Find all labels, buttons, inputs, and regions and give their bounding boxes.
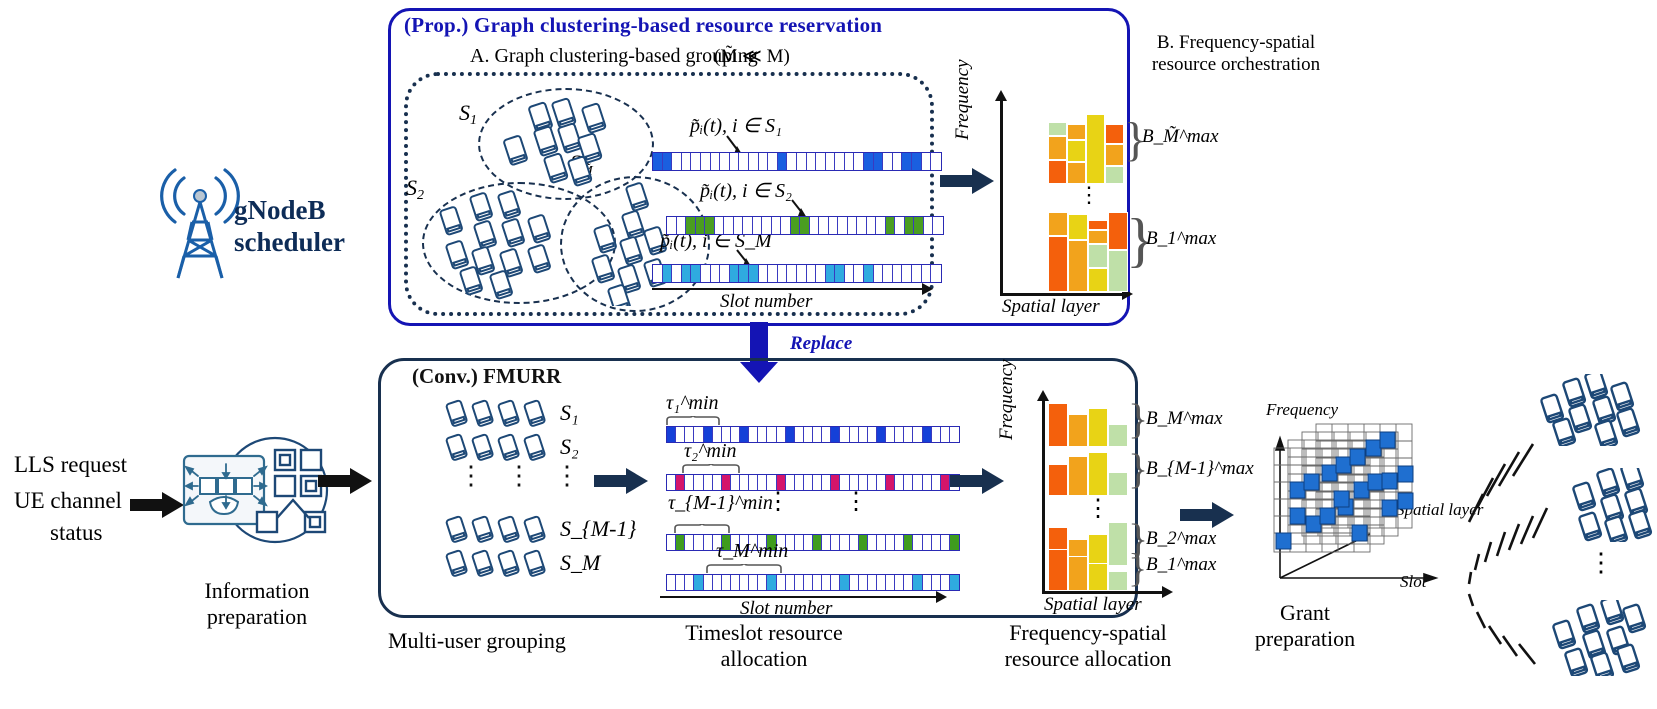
slot-cell[interactable] bbox=[904, 575, 913, 590]
tau-brace-2 bbox=[682, 464, 740, 474]
input-lls-request: LLS request bbox=[14, 452, 127, 478]
slot-cell[interactable] bbox=[807, 153, 817, 170]
bar-stack-3 bbox=[1088, 220, 1108, 230]
slot-cell[interactable] bbox=[694, 575, 703, 590]
slot-cell[interactable] bbox=[795, 575, 804, 590]
slot-cell[interactable] bbox=[868, 427, 877, 442]
slot-cell[interactable] bbox=[950, 575, 959, 590]
slot-cell[interactable] bbox=[913, 575, 922, 590]
slot-cell[interactable] bbox=[813, 427, 822, 442]
bar-stack-3 bbox=[1088, 230, 1108, 244]
slot-cell[interactable] bbox=[886, 427, 895, 442]
slot-cell[interactable] bbox=[787, 153, 797, 170]
bar-3 bbox=[1088, 408, 1108, 447]
grant-fan-dashes bbox=[1455, 430, 1585, 670]
slot-cell[interactable] bbox=[941, 535, 950, 550]
slot-axis-arrow-conv bbox=[936, 591, 947, 603]
slot-cell[interactable] bbox=[941, 475, 950, 490]
gnodeb-label-line1: gNodeB bbox=[234, 195, 345, 227]
slot-cell[interactable] bbox=[720, 265, 730, 282]
slot-bar-s2[interactable] bbox=[666, 216, 944, 235]
slot-bar-conv-4[interactable] bbox=[666, 574, 960, 591]
bar-stack-2 bbox=[1067, 162, 1086, 184]
group-devices-s2 bbox=[444, 432, 548, 462]
stage-label-line2: resource allocation bbox=[968, 646, 1208, 672]
slot-cell[interactable] bbox=[778, 265, 788, 282]
arrow-grouping-to-timeslot bbox=[594, 466, 650, 496]
slot-cell[interactable] bbox=[868, 575, 877, 590]
slot-cell[interactable] bbox=[762, 217, 772, 234]
slot-cell[interactable] bbox=[905, 217, 915, 234]
information-preparation-icon bbox=[180, 428, 338, 564]
slot-cell[interactable] bbox=[724, 217, 734, 234]
input-ue-channel-status: status bbox=[50, 520, 102, 546]
slot-cell[interactable] bbox=[822, 575, 831, 590]
stage-label-frequency-spatial-resource-allocation: Frequency-spatial resource allocation bbox=[968, 620, 1208, 673]
slot-cell[interactable] bbox=[740, 427, 749, 442]
slot-cell[interactable] bbox=[922, 153, 932, 170]
bar-stack-2 bbox=[1068, 214, 1088, 240]
bar-stack-2 bbox=[1068, 240, 1088, 292]
slot-cell[interactable] bbox=[804, 427, 813, 442]
cluster-label-s2: S2 bbox=[406, 175, 424, 204]
slot-cell[interactable] bbox=[826, 265, 836, 282]
slot-cell[interactable] bbox=[941, 427, 950, 442]
slot-cell[interactable] bbox=[704, 535, 713, 550]
slot-cell[interactable] bbox=[800, 217, 810, 234]
slot-cell[interactable] bbox=[813, 535, 822, 550]
slot-cell[interactable] bbox=[912, 153, 922, 170]
slot-cell[interactable] bbox=[923, 427, 932, 442]
chart-b-y-axis bbox=[1000, 100, 1003, 296]
slot-cell[interactable] bbox=[685, 575, 694, 590]
slot-cell[interactable] bbox=[895, 475, 904, 490]
slot-cell[interactable] bbox=[804, 535, 813, 550]
slot-cell[interactable] bbox=[864, 265, 874, 282]
slot-cell[interactable] bbox=[676, 475, 685, 490]
slot-cell[interactable] bbox=[886, 217, 896, 234]
slot-cell[interactable] bbox=[868, 535, 877, 550]
slot-cell[interactable] bbox=[886, 475, 895, 490]
stage-label-multi-user-grouping: Multi-user grouping bbox=[388, 628, 566, 654]
chart-b-y-arrow bbox=[995, 90, 1007, 101]
slot-cell[interactable] bbox=[772, 217, 782, 234]
chart-b-ellipsis: ⋮ bbox=[1078, 192, 1100, 198]
slot-cell[interactable] bbox=[711, 153, 721, 170]
slot-cell[interactable] bbox=[904, 475, 913, 490]
slot-cell[interactable] bbox=[883, 153, 893, 170]
slot-cell[interactable] bbox=[922, 265, 932, 282]
chart-b-brace-label-upper: B_M̃^max bbox=[1142, 126, 1219, 148]
arrow-timeslot-to-freq-chart bbox=[950, 466, 1006, 496]
slot-cell[interactable] bbox=[931, 265, 941, 282]
chart-b-group-upper bbox=[1048, 122, 1120, 184]
slot-cell[interactable] bbox=[912, 265, 922, 282]
slot-cell[interactable] bbox=[731, 575, 740, 590]
slot-cell[interactable] bbox=[778, 153, 788, 170]
slot-cell[interactable] bbox=[795, 535, 804, 550]
slot-cell[interactable] bbox=[932, 475, 941, 490]
bar-4 bbox=[1108, 571, 1128, 591]
slot-cell[interactable] bbox=[831, 535, 840, 550]
slot-cell[interactable] bbox=[914, 217, 924, 234]
slot-cell[interactable] bbox=[701, 265, 711, 282]
slot-cell[interactable] bbox=[895, 427, 904, 442]
slot-cell[interactable] bbox=[682, 153, 692, 170]
slot-cell[interactable] bbox=[740, 575, 749, 590]
slot-cell[interactable] bbox=[731, 475, 740, 490]
slot-cell[interactable] bbox=[840, 427, 849, 442]
group-ellipsis-dots: ⋮⋮⋮ bbox=[458, 470, 602, 482]
slot-cell[interactable] bbox=[904, 535, 913, 550]
gnodeb-label-line2: scheduler bbox=[234, 227, 345, 259]
stage-label-grant-preparation: Grant preparation bbox=[1220, 600, 1390, 653]
tau-brace-1 bbox=[666, 416, 720, 426]
slot-cell[interactable] bbox=[904, 427, 913, 442]
slot-cell[interactable] bbox=[932, 575, 941, 590]
chart-b-group-lower bbox=[1048, 212, 1126, 292]
slot-cell[interactable] bbox=[791, 217, 801, 234]
slot-cell[interactable] bbox=[753, 217, 763, 234]
stage-label-line1: Timeslot resource bbox=[664, 620, 864, 646]
slot-cell[interactable] bbox=[924, 217, 934, 234]
slot-cell[interactable] bbox=[759, 265, 769, 282]
slot-bar-sm[interactable] bbox=[652, 264, 942, 283]
slot-cell[interactable] bbox=[795, 475, 804, 490]
slot-cell[interactable] bbox=[838, 217, 848, 234]
slot-cell[interactable] bbox=[850, 475, 859, 490]
slot-cell[interactable] bbox=[826, 153, 836, 170]
slot-cell[interactable] bbox=[933, 217, 943, 234]
slot-axis-arrow-proposed bbox=[922, 283, 933, 295]
slot-cell[interactable] bbox=[845, 265, 855, 282]
slot-cell[interactable] bbox=[694, 535, 703, 550]
replace-label: Replace bbox=[790, 333, 852, 355]
slot-cell[interactable] bbox=[850, 575, 859, 590]
chart-conv-group-m bbox=[1048, 403, 1128, 447]
slot-cell[interactable] bbox=[857, 217, 867, 234]
slot-cell[interactable] bbox=[840, 475, 849, 490]
slot-cell[interactable] bbox=[667, 575, 676, 590]
arrow-inputs-to-info-prep bbox=[130, 490, 186, 520]
slot-cell[interactable] bbox=[663, 153, 673, 170]
slot-cell[interactable] bbox=[877, 575, 886, 590]
slot-cell[interactable] bbox=[667, 217, 677, 234]
slot-cell[interactable] bbox=[749, 153, 759, 170]
chart-conv-brace-label-1: B_1^max bbox=[1146, 554, 1216, 576]
slot-cell[interactable] bbox=[722, 475, 731, 490]
slot-cell[interactable] bbox=[797, 153, 807, 170]
chart-conv-brace-1: } bbox=[1128, 544, 1147, 591]
bar-stack-1 bbox=[1048, 160, 1067, 184]
group-devices-sm1 bbox=[444, 514, 548, 544]
slot-cell[interactable] bbox=[786, 475, 795, 490]
slot-cell[interactable] bbox=[795, 427, 804, 442]
slot-cell[interactable] bbox=[868, 475, 877, 490]
chart-conv-y-axis bbox=[1042, 400, 1045, 594]
slot-cell[interactable] bbox=[923, 575, 932, 590]
slot-cell[interactable] bbox=[923, 475, 932, 490]
group-label-s1: S₁ bbox=[560, 400, 579, 426]
slot-cell[interactable] bbox=[859, 427, 868, 442]
chart-conv-y-arrow bbox=[1037, 390, 1049, 401]
slot-cell[interactable] bbox=[749, 475, 758, 490]
slot-cell[interactable] bbox=[749, 265, 759, 282]
slot-cell[interactable] bbox=[932, 535, 941, 550]
slot-cell[interactable] bbox=[932, 427, 941, 442]
slot-cell[interactable] bbox=[734, 217, 744, 234]
slot-bar-conv-2[interactable] bbox=[666, 474, 960, 491]
slot-cell[interactable] bbox=[711, 265, 721, 282]
slot-cell[interactable] bbox=[743, 217, 753, 234]
slot-cell[interactable] bbox=[923, 535, 932, 550]
bar-stack-1 bbox=[1048, 136, 1067, 160]
slot-cell[interactable] bbox=[886, 535, 895, 550]
conv-slot-ellipsis-2: ⋮ bbox=[844, 498, 868, 507]
gnodeb-label: gNodeB scheduler bbox=[234, 195, 345, 259]
bar-stack-2 bbox=[1067, 124, 1086, 140]
slot-cell[interactable] bbox=[758, 427, 767, 442]
slot-cell[interactable] bbox=[781, 217, 791, 234]
slot-cell[interactable] bbox=[913, 535, 922, 550]
slot-bar-conv-3[interactable] bbox=[666, 534, 960, 551]
slot-cell[interactable] bbox=[831, 475, 840, 490]
bar-3 bbox=[1088, 452, 1108, 496]
slot-cell[interactable] bbox=[758, 475, 767, 490]
slot-cell[interactable] bbox=[663, 265, 673, 282]
slot-cell[interactable] bbox=[777, 575, 786, 590]
slot-cell[interactable] bbox=[859, 575, 868, 590]
stage-label-line2: preparation bbox=[177, 604, 337, 630]
slot-cell[interactable] bbox=[804, 575, 813, 590]
slot-cell[interactable] bbox=[822, 427, 831, 442]
chart-conv-brace-label-m1: B_{M-1}^max bbox=[1146, 458, 1254, 480]
group-label-sm: S_M bbox=[560, 550, 600, 576]
slot-cell[interactable] bbox=[720, 153, 730, 170]
slot-cell[interactable] bbox=[835, 153, 845, 170]
slot-cell[interactable] bbox=[913, 427, 922, 442]
slot-cell[interactable] bbox=[854, 153, 864, 170]
slot-cell[interactable] bbox=[819, 217, 829, 234]
chart-conv-ellipsis: ⋮ bbox=[1086, 506, 1110, 512]
slot-cell[interactable] bbox=[840, 575, 849, 590]
slot-bar-s1[interactable] bbox=[652, 152, 942, 171]
slot-cell[interactable] bbox=[767, 475, 776, 490]
slot-cell[interactable] bbox=[822, 535, 831, 550]
slot-cell[interactable] bbox=[701, 153, 711, 170]
slot-cell[interactable] bbox=[807, 265, 817, 282]
chart-conv-group-1 bbox=[1048, 549, 1128, 591]
slot-cell[interactable] bbox=[874, 265, 884, 282]
slot-cell[interactable] bbox=[653, 265, 663, 282]
slot-cell[interactable] bbox=[786, 427, 795, 442]
arrow-info-prep-to-conv bbox=[318, 466, 374, 496]
slot-cell[interactable] bbox=[835, 265, 845, 282]
slot-cell[interactable] bbox=[713, 475, 722, 490]
slot-cell[interactable] bbox=[730, 265, 740, 282]
conventional-panel-title: (Conv.) FMURR bbox=[412, 364, 561, 389]
slot-cell[interactable] bbox=[713, 575, 722, 590]
antenna-tower-icon bbox=[158, 152, 242, 280]
slot-cell[interactable] bbox=[895, 535, 904, 550]
slot-cell[interactable] bbox=[859, 535, 868, 550]
slot-cell[interactable] bbox=[913, 475, 922, 490]
group-label-sm1: S_{M-1} bbox=[560, 516, 636, 542]
slot-cell[interactable] bbox=[749, 575, 758, 590]
slot-cell[interactable] bbox=[768, 265, 778, 282]
slot-cell[interactable] bbox=[877, 427, 886, 442]
stage-label-timeslot-resource-allocation: Timeslot resource allocation bbox=[664, 620, 864, 673]
slot-cell[interactable] bbox=[767, 427, 776, 442]
slot-cell[interactable] bbox=[859, 475, 868, 490]
cluster-devices-s1 bbox=[486, 92, 646, 192]
slot-cell[interactable] bbox=[758, 575, 767, 590]
slot-cell[interactable] bbox=[854, 265, 864, 282]
slot-axis-label-proposed: Slot number bbox=[720, 291, 812, 313]
slot-cell[interactable] bbox=[667, 427, 676, 442]
bar-stack-4 bbox=[1105, 124, 1124, 144]
slot-cell[interactable] bbox=[676, 575, 685, 590]
slot-cell[interactable] bbox=[848, 217, 858, 234]
slot-cell[interactable] bbox=[685, 535, 694, 550]
slot-cell[interactable] bbox=[696, 217, 706, 234]
slot-cell[interactable] bbox=[691, 153, 701, 170]
slot-cell[interactable] bbox=[667, 535, 676, 550]
slot-cell[interactable] bbox=[786, 575, 795, 590]
bar-stack-1 bbox=[1048, 122, 1067, 136]
stage-label-line1: Frequency-spatial bbox=[968, 620, 1208, 646]
slot-cell[interactable] bbox=[672, 153, 682, 170]
slot-cell[interactable] bbox=[895, 575, 904, 590]
bar-stack-3 bbox=[1088, 268, 1108, 292]
slot-cell[interactable] bbox=[813, 575, 822, 590]
stage-label-line1: Grant bbox=[1220, 600, 1390, 626]
slot-cell[interactable] bbox=[787, 265, 797, 282]
slot-cell[interactable] bbox=[694, 475, 703, 490]
bar-2 bbox=[1068, 456, 1088, 496]
slot-cell[interactable] bbox=[950, 535, 959, 550]
slot-cell[interactable] bbox=[768, 153, 778, 170]
stage-label-line1: Information bbox=[177, 578, 337, 604]
slot-cell[interactable] bbox=[886, 575, 895, 590]
proposed-subsection-a-note: (M̃ ≪ M) bbox=[714, 45, 790, 68]
slot-cell[interactable] bbox=[739, 265, 749, 282]
slot-cell[interactable] bbox=[902, 153, 912, 170]
slot-cell[interactable] bbox=[691, 265, 701, 282]
slot-cell[interactable] bbox=[831, 575, 840, 590]
slot-cell[interactable] bbox=[676, 535, 685, 550]
slot-cell[interactable] bbox=[845, 153, 855, 170]
slot-cell[interactable] bbox=[667, 475, 676, 490]
slot-cell[interactable] bbox=[682, 265, 692, 282]
slot-cell[interactable] bbox=[739, 153, 749, 170]
slot-cell[interactable] bbox=[813, 475, 822, 490]
slot-cell[interactable] bbox=[740, 475, 749, 490]
group-devices-sm bbox=[444, 548, 548, 578]
stage-label-information-preparation: Information preparation bbox=[177, 578, 337, 631]
proposed-subsection-b-title: B. Frequency-spatial resource orchestrat… bbox=[1141, 32, 1331, 76]
slot-cell[interactable] bbox=[722, 575, 731, 590]
slot-cell[interactable] bbox=[950, 427, 959, 442]
slot-cell[interactable] bbox=[831, 427, 840, 442]
bar-4 bbox=[1108, 472, 1128, 496]
tau-brace-3 bbox=[674, 524, 730, 534]
slot-cell[interactable] bbox=[685, 475, 694, 490]
bar-2 bbox=[1068, 556, 1088, 591]
slot-cell[interactable] bbox=[672, 265, 682, 282]
arrow-conv-to-grant-prep bbox=[1180, 500, 1236, 530]
slot-cell[interactable] bbox=[677, 217, 687, 234]
proposed-subsection-b-line1: B. Frequency-spatial bbox=[1141, 32, 1331, 54]
slot-cell[interactable] bbox=[705, 217, 715, 234]
bar-stack-4 bbox=[1108, 250, 1128, 292]
tau-label-3: τ_{M-1}^min bbox=[668, 492, 773, 515]
slot-cell[interactable] bbox=[893, 153, 903, 170]
slot-cell[interactable] bbox=[730, 153, 740, 170]
slot-cell[interactable] bbox=[653, 153, 663, 170]
tau-label-1: τ₁^min bbox=[666, 392, 719, 415]
slot-cell[interactable] bbox=[893, 265, 903, 282]
tau-label-4: τ_M^min bbox=[716, 540, 788, 563]
slot-cell[interactable] bbox=[902, 265, 912, 282]
slot-cell[interactable] bbox=[704, 575, 713, 590]
slot-cell[interactable] bbox=[704, 475, 713, 490]
slot-cell[interactable] bbox=[749, 427, 758, 442]
slot-cell[interactable] bbox=[777, 427, 786, 442]
slot-cell[interactable] bbox=[822, 475, 831, 490]
slot-cell[interactable] bbox=[941, 575, 950, 590]
stage-label-line2: preparation bbox=[1220, 626, 1390, 652]
slot-cell[interactable] bbox=[816, 265, 826, 282]
cluster-label-s1: S1 bbox=[459, 100, 477, 129]
slot-axis-line-proposed bbox=[652, 288, 924, 290]
arrow-to-orchestration-chart bbox=[940, 166, 996, 196]
slot-cell[interactable] bbox=[876, 217, 886, 234]
slot-cell[interactable] bbox=[840, 535, 849, 550]
slot-cell[interactable] bbox=[759, 153, 769, 170]
slot-cell[interactable] bbox=[816, 153, 826, 170]
slot-cell[interactable] bbox=[797, 265, 807, 282]
chart-conv-group-m1 bbox=[1048, 452, 1128, 496]
grant-resource-cube bbox=[1270, 418, 1460, 598]
slot-cell[interactable] bbox=[829, 217, 839, 234]
slot-cell[interactable] bbox=[715, 217, 725, 234]
slot-cell[interactable] bbox=[686, 217, 696, 234]
slot-cell[interactable] bbox=[767, 575, 776, 590]
proposed-subsection-b-line2: resource orchestration bbox=[1141, 54, 1331, 76]
slot-row-label-s2: p̃ᵢ(t), i ∈ S₂ bbox=[700, 178, 792, 203]
slot-cell[interactable] bbox=[777, 475, 786, 490]
slot-cell[interactable] bbox=[850, 535, 859, 550]
slot-cell[interactable] bbox=[883, 265, 893, 282]
slot-cell[interactable] bbox=[810, 217, 820, 234]
slot-cell[interactable] bbox=[877, 535, 886, 550]
slot-cell[interactable] bbox=[877, 475, 886, 490]
slot-cell[interactable] bbox=[850, 427, 859, 442]
bar-stack-3 bbox=[1086, 114, 1105, 184]
tau-label-2: τ₂^min bbox=[684, 440, 737, 463]
slot-cell[interactable] bbox=[867, 217, 877, 234]
bar-stack-4 bbox=[1108, 212, 1128, 250]
chart-conv-brace-label-2: B_2^max bbox=[1146, 528, 1216, 550]
chart-conv-x-arrow bbox=[1162, 586, 1173, 598]
slot-cell[interactable] bbox=[864, 153, 874, 170]
bar-3 bbox=[1088, 563, 1108, 591]
slot-cell[interactable] bbox=[804, 475, 813, 490]
slot-cell[interactable] bbox=[874, 153, 884, 170]
stage-label-line2: allocation bbox=[664, 646, 864, 672]
slot-cell[interactable] bbox=[895, 217, 905, 234]
